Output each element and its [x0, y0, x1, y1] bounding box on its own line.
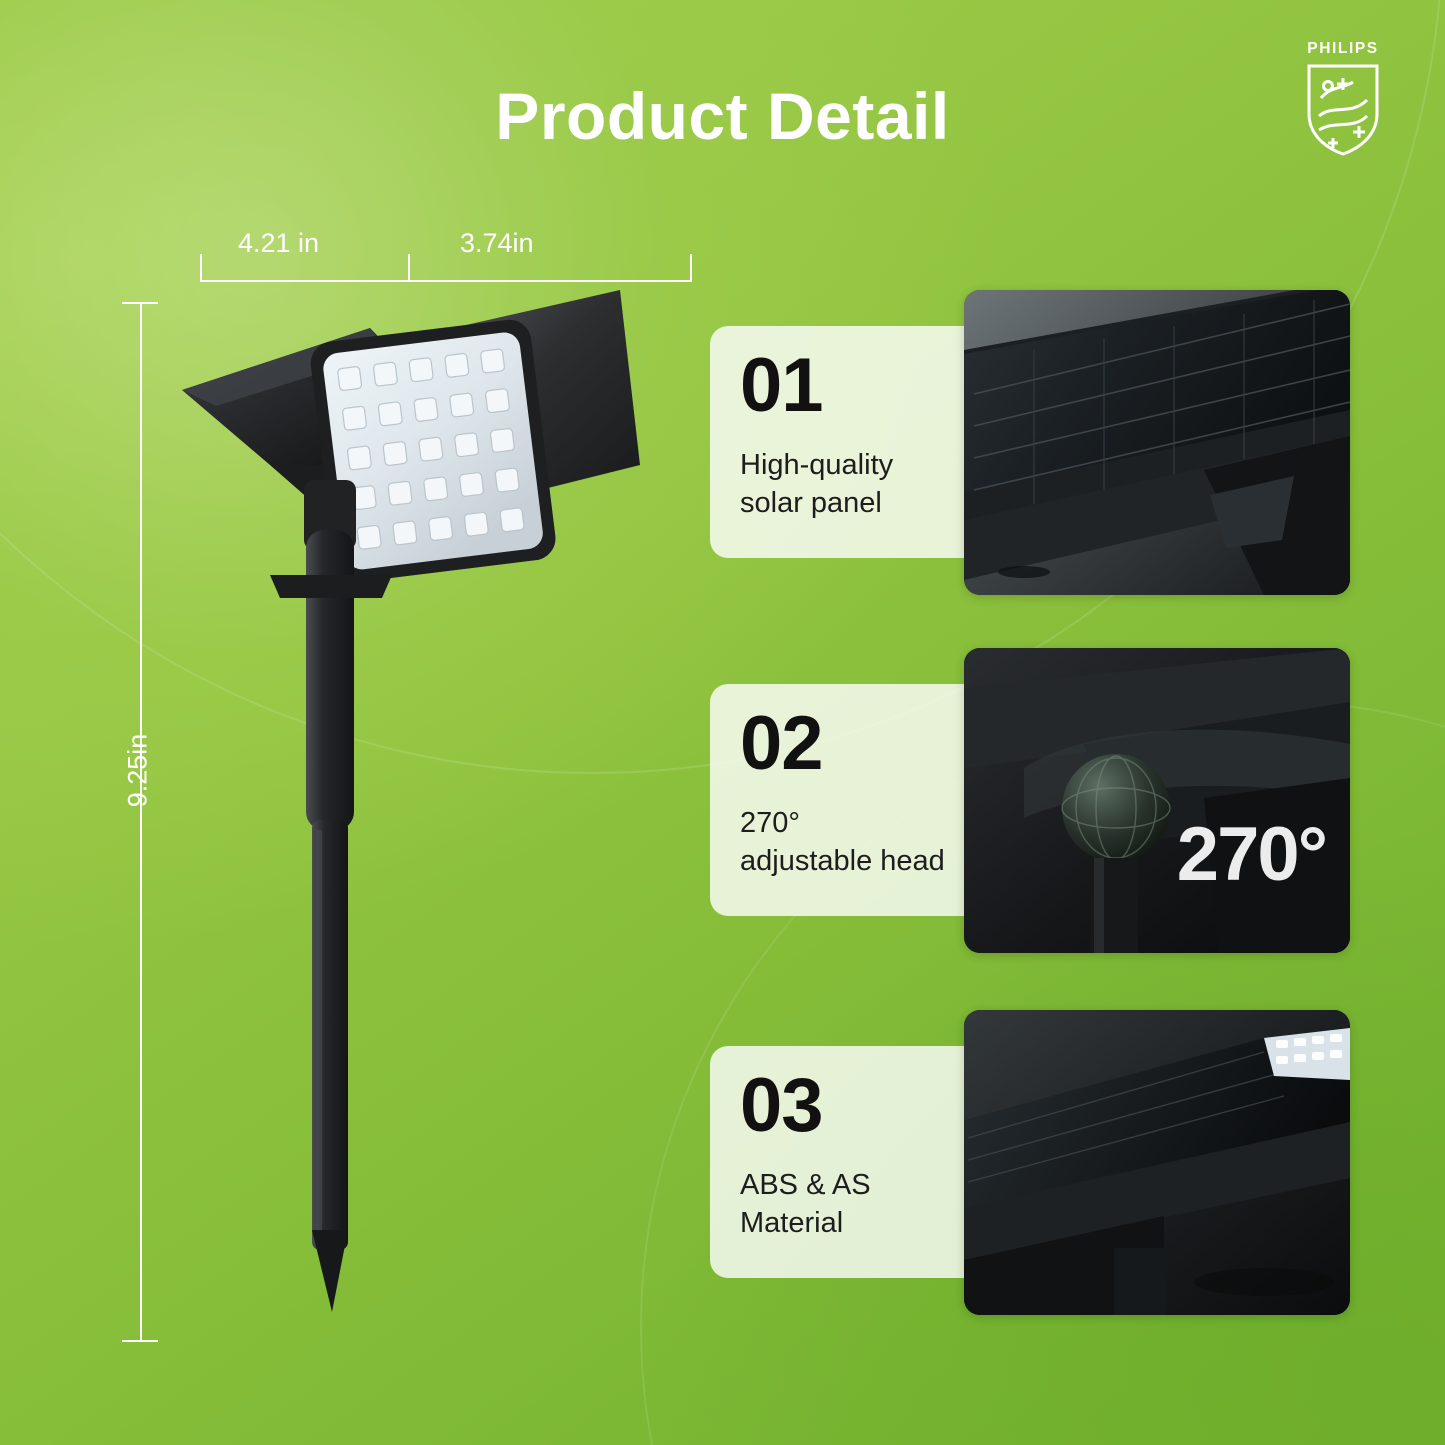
svg-text:270°: 270°	[1177, 812, 1326, 897]
feature-block-02: 02 270° adjustable head	[710, 648, 1350, 953]
dimension-label-width-right: 3.74in	[460, 228, 534, 259]
feature-block-01: 01 High-quality solar panel	[710, 290, 1350, 595]
dimension-tick-mid	[408, 254, 410, 282]
feature-number: 01	[740, 348, 823, 424]
brand-logo: PHILIPS	[1297, 42, 1389, 160]
dimension-tick-left	[200, 254, 202, 282]
dimension-tick-right	[690, 254, 692, 282]
dimension-tick-top	[122, 302, 158, 304]
feature-photo-adjustable-head: 270°	[964, 648, 1350, 953]
feature-photo-solar-panel	[964, 290, 1350, 595]
page-title: Product Detail	[0, 78, 1445, 154]
feature-block-03: 03 ABS & AS Material	[710, 1010, 1350, 1315]
philips-shield-icon	[1297, 42, 1389, 160]
product-photo: 4.21 in 3.74in 9.25in	[120, 230, 740, 1390]
feature-number: 03	[740, 1068, 823, 1144]
dimension-tick-bottom	[122, 1340, 158, 1342]
feature-photo-abs-as-material	[964, 1010, 1350, 1315]
dimension-label-height: 9.25in	[123, 691, 154, 851]
solar-spot-light-illustration	[120, 230, 740, 1390]
dimension-label-width-left: 4.21 in	[238, 228, 319, 259]
dimension-line-top	[200, 280, 692, 282]
feature-number: 02	[740, 706, 823, 782]
poster-background: Product Detail PHILIPS 4.21 in 3.74in 9.…	[0, 0, 1445, 1445]
brand-name: PHILIPS	[1297, 40, 1389, 58]
